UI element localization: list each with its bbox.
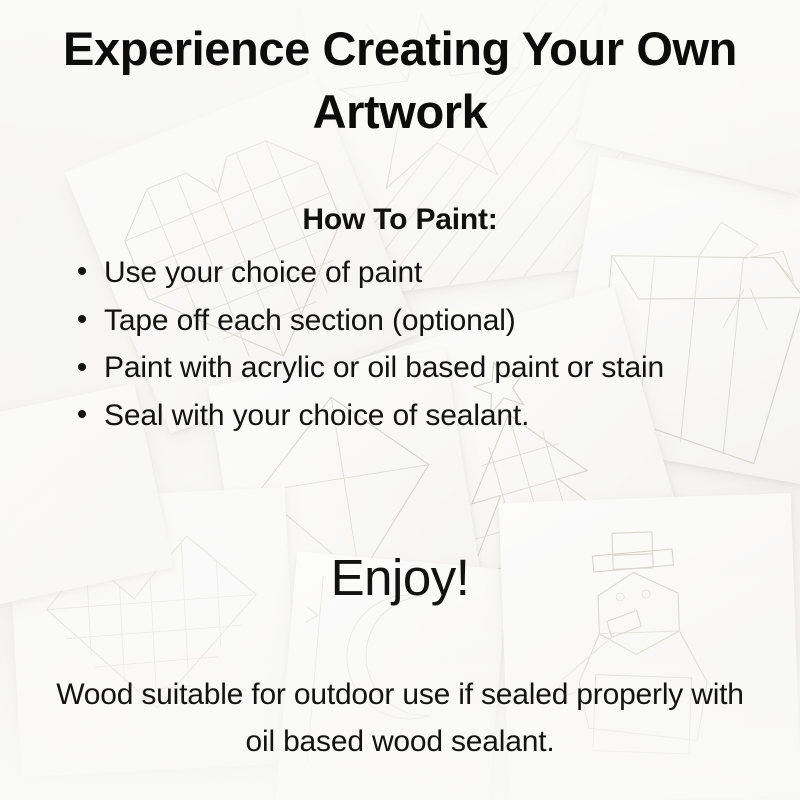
bullet-dot-icon [78,363,86,371]
list-item-label: Use your choice of paint [104,256,422,289]
list-item-label: Seal with your choice of sealant. [104,399,529,432]
list-item: Seal with your choice of sealant. [72,393,760,439]
page-title: Experience Creating Your Own Artwork [0,18,800,143]
enjoy-callout: Enjoy! [0,548,800,607]
footer-note: Wood suitable for outdoor use if sealed … [0,672,800,765]
list-item: Use your choice of paint [72,250,760,296]
list-item: Tape off each section (optional) [72,298,760,344]
list-item: Paint with acrylic or oil based paint or… [72,345,760,391]
list-item-label: Paint with acrylic or oil based paint or… [104,351,664,384]
instructions-list: Use your choice of paint Tape off each s… [72,250,760,440]
infographic-page: Experience Creating Your Own Artwork How… [0,0,800,800]
how-to-paint-heading: How To Paint: [0,203,800,237]
bullet-dot-icon [78,315,86,323]
list-item-label: Tape off each section (optional) [104,304,516,337]
text-overlay: Experience Creating Your Own Artwork How… [0,0,800,800]
bullet-dot-icon [78,267,86,275]
bullet-dot-icon [78,410,86,418]
